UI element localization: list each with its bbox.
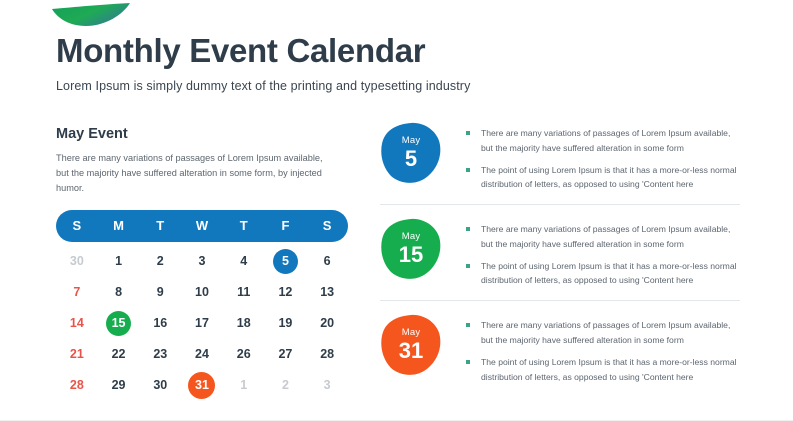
calendar-panel: May Event There are many variations of p… <box>56 126 348 401</box>
page-title: Monthly Event Calendar <box>56 32 470 70</box>
calendar-day-cell[interactable]: 6 <box>306 254 348 268</box>
calendar-day-cell[interactable]: 3 <box>306 378 348 392</box>
event-bullet: There are many variations of passages of… <box>466 318 740 348</box>
calendar-day-cell[interactable]: 1 <box>223 378 265 392</box>
calendar-day-cell[interactable]: 4 <box>223 254 265 268</box>
event-date-badge[interactable]: May5 <box>380 122 450 188</box>
calendar-week-row: 30123456 <box>56 246 348 277</box>
calendar-day-cell[interactable]: 15 <box>98 311 140 336</box>
weekday-header-3: W <box>181 218 223 233</box>
calendar-day-cell[interactable]: 18 <box>223 316 265 330</box>
weekday-header-1: M <box>98 218 140 233</box>
calendar-day-cell[interactable]: 2 <box>265 378 307 392</box>
badge-blob-icon <box>380 218 450 284</box>
calendar-grid[interactable]: 3012345678910111213141516171819202122232… <box>56 246 348 401</box>
day-highlight-badge: 31 <box>188 372 215 399</box>
event-bullet: The point of using Lorem Ipsum is that i… <box>466 163 740 193</box>
badge-blob-icon <box>380 314 450 380</box>
weekday-header-2: T <box>139 218 181 233</box>
page-header: Monthly Event Calendar Lorem Ipsum is si… <box>56 32 470 93</box>
event-bullet: The point of using Lorem Ipsum is that i… <box>466 355 740 385</box>
calendar-day-cell[interactable]: 28 <box>56 378 98 392</box>
weekday-header-6: S <box>306 218 348 233</box>
event-bullet-list: There are many variations of passages of… <box>466 122 740 192</box>
event-bullet-list: There are many variations of passages of… <box>466 218 740 288</box>
calendar-day-cell[interactable]: 12 <box>265 285 307 299</box>
calendar-day-cell[interactable]: 13 <box>306 285 348 299</box>
calendar-day-cell[interactable]: 21 <box>56 347 98 361</box>
event-item: May31There are many variations of passag… <box>380 300 740 396</box>
calendar-day-cell[interactable]: 24 <box>181 347 223 361</box>
slide-canvas: Monthly Event Calendar Lorem Ipsum is si… <box>0 0 793 421</box>
event-bullet: There are many variations of passages of… <box>466 126 740 156</box>
calendar-day-cell[interactable]: 8 <box>98 285 140 299</box>
calendar-weekday-header: SMTWTFS <box>56 210 348 242</box>
calendar-day-cell[interactable]: 22 <box>98 347 140 361</box>
badge-blob-icon <box>380 122 450 188</box>
calendar-description: There are many variations of passages of… <box>56 151 326 196</box>
weekday-header-0: S <box>56 218 98 233</box>
calendar-day-cell[interactable]: 29 <box>98 378 140 392</box>
calendar-week-row: 28293031123 <box>56 370 348 401</box>
event-item: May15There are many variations of passag… <box>380 204 740 300</box>
calendar-day-cell[interactable]: 30 <box>139 378 181 392</box>
event-bullet: The point of using Lorem Ipsum is that i… <box>466 259 740 289</box>
event-item: May5There are many variations of passage… <box>380 122 740 204</box>
calendar-week-row: 14151617181920 <box>56 308 348 339</box>
weekday-header-4: T <box>223 218 265 233</box>
calendar-day-cell[interactable]: 31 <box>181 372 223 399</box>
day-highlight-badge: 5 <box>273 249 298 274</box>
event-list: May5There are many variations of passage… <box>380 122 740 396</box>
calendar-day-cell[interactable]: 5 <box>265 249 307 274</box>
calendar-week-row: 78910111213 <box>56 277 348 308</box>
calendar-day-cell[interactable]: 16 <box>139 316 181 330</box>
calendar-day-cell[interactable]: 30 <box>56 254 98 268</box>
calendar-day-cell[interactable]: 23 <box>139 347 181 361</box>
calendar-day-cell[interactable]: 10 <box>181 285 223 299</box>
weekday-header-5: F <box>265 218 307 233</box>
calendar-day-cell[interactable]: 14 <box>56 316 98 330</box>
event-bullet: There are many variations of passages of… <box>466 222 740 252</box>
calendar-day-cell[interactable]: 26 <box>223 347 265 361</box>
calendar-week-row: 21222324262728 <box>56 339 348 370</box>
leaf-decoration-icon <box>52 2 130 28</box>
calendar-day-cell[interactable]: 2 <box>139 254 181 268</box>
calendar-day-cell[interactable]: 27 <box>265 347 307 361</box>
calendar-day-cell[interactable]: 3 <box>181 254 223 268</box>
event-date-badge[interactable]: May15 <box>380 218 450 284</box>
calendar-day-cell[interactable]: 7 <box>56 285 98 299</box>
calendar-day-cell[interactable]: 1 <box>98 254 140 268</box>
calendar-title: May Event <box>56 126 348 142</box>
calendar-day-cell[interactable]: 28 <box>306 347 348 361</box>
calendar-day-cell[interactable]: 17 <box>181 316 223 330</box>
event-bullet-list: There are many variations of passages of… <box>466 314 740 384</box>
event-date-badge[interactable]: May31 <box>380 314 450 380</box>
calendar-day-cell[interactable]: 19 <box>265 316 307 330</box>
page-subtitle: Lorem Ipsum is simply dummy text of the … <box>56 79 470 93</box>
calendar-day-cell[interactable]: 20 <box>306 316 348 330</box>
calendar-day-cell[interactable]: 11 <box>223 285 265 299</box>
calendar-day-cell[interactable]: 9 <box>139 285 181 299</box>
day-highlight-badge: 15 <box>106 311 131 336</box>
